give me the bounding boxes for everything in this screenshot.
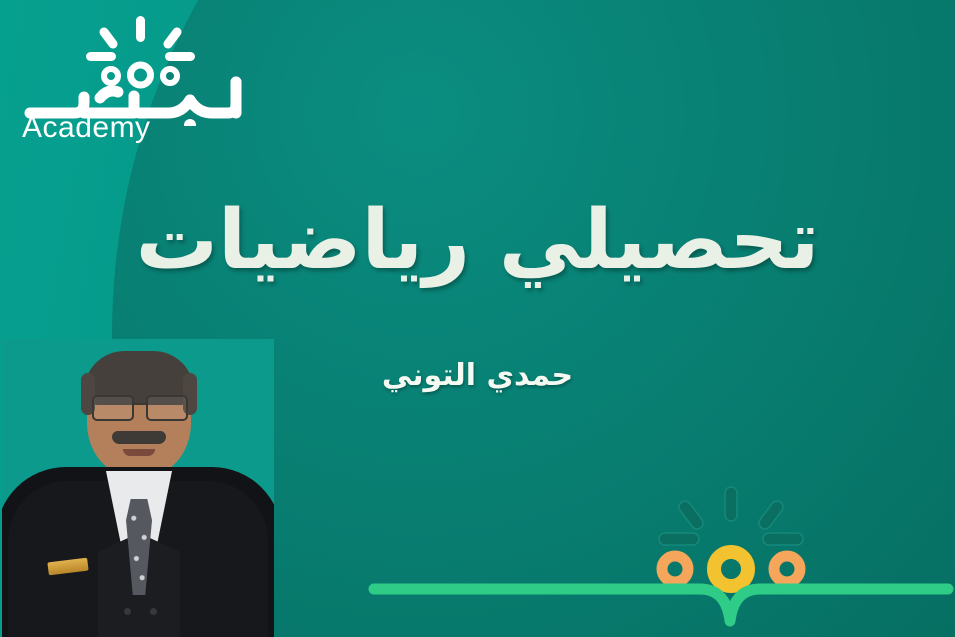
three-rings-icon [662,552,800,586]
vest-button [150,608,157,615]
sunburst-rays-icon [86,16,195,61]
logo-academy-label: Academy [22,113,151,143]
glasses-lens-left [92,395,134,421]
academy-emblem-watermark [651,483,811,593]
sunburst-rays-icon [659,487,803,545]
three-rings-icon [104,65,177,85]
academy-arabic-wordmark [30,82,236,113]
page-title: تحصيلي رياضيات [0,196,955,286]
vest-button [124,608,131,615]
presenter-portrait [2,339,274,637]
slide-canvas: Academy تحصيلي رياضيات حمدي التوني [0,0,955,637]
portrait-mustache [112,431,166,444]
portrait-mouth [123,449,155,456]
wordmark-dot [184,119,196,126]
glasses-icon [90,395,190,417]
glasses-lens-right [146,395,188,421]
